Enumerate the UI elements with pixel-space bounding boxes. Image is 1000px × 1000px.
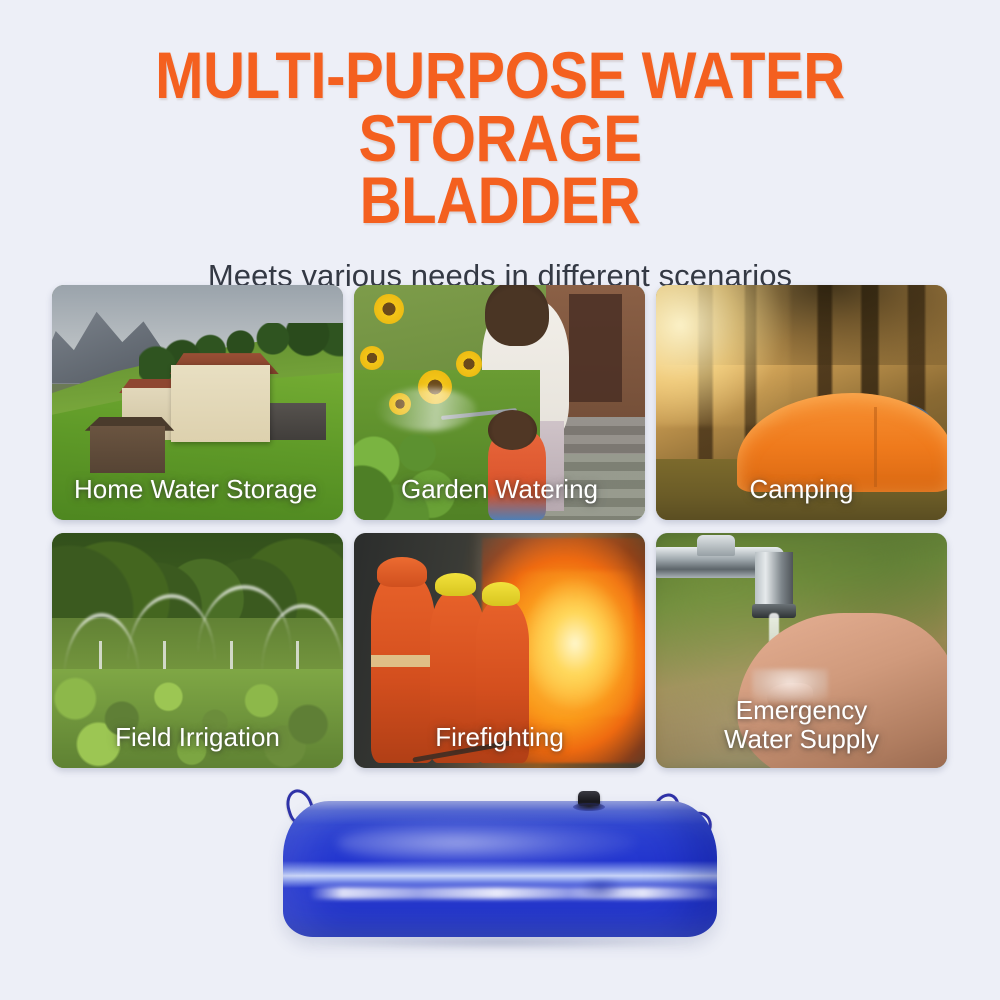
scenario-card-label: Camping <box>656 475 947 504</box>
water-spray <box>377 388 476 430</box>
sunflower-icon <box>360 346 384 370</box>
scenario-card-garden-watering: Garden Watering <box>354 285 645 520</box>
header: MULTI-PURPOSE WATER STORAGE BLADDER Meet… <box>0 0 1000 294</box>
bladder-body <box>283 801 717 937</box>
sunflower-icon <box>456 351 482 377</box>
faucet-knob <box>697 535 735 556</box>
yellow-helmet-icon <box>482 582 520 606</box>
surface-crease <box>579 879 623 901</box>
scenario-card-label: Emergency Water Supply <box>656 696 947 754</box>
product-image-water-storage-bladder <box>265 785 735 945</box>
gloss-highlight-top <box>337 821 637 865</box>
product-ground-shadow <box>309 935 695 949</box>
page-title-line-2: BLADDER <box>360 163 641 237</box>
house-icon <box>171 365 270 443</box>
crop-rows <box>52 669 343 768</box>
scenario-card-label-line-2: Water Supply <box>724 724 879 754</box>
scenario-card-home-water-storage: Home Water Storage <box>52 285 343 520</box>
scenario-card-label-line-1: Emergency <box>736 695 868 725</box>
reflective-stripe <box>371 655 435 667</box>
child-hair <box>488 410 537 450</box>
scenario-card-label: Field Irrigation <box>52 723 343 752</box>
scenario-card-label: Home Water Storage <box>52 475 343 504</box>
scenario-card-field-irrigation: Field Irrigation <box>52 533 343 768</box>
yellow-helmet-icon <box>435 573 476 597</box>
shed-icon <box>267 403 325 441</box>
scenario-card-grid: Home Water Storage Garden Watering <box>52 285 948 768</box>
firefighter-hood <box>377 557 426 588</box>
page-title: MULTI-PURPOSE WATER STORAGE BLADDER <box>95 44 905 232</box>
valve-cap-icon <box>578 791 600 806</box>
gloss-highlight-band <box>309 887 727 899</box>
page-title-line-1: MULTI-PURPOSE WATER STORAGE <box>155 38 845 175</box>
flame-core <box>517 571 633 717</box>
scenario-card-emergency-water-supply: Emergency Water Supply <box>656 533 947 768</box>
scenario-card-label: Firefighting <box>354 723 645 752</box>
woman-hair <box>485 285 549 346</box>
scenario-card-firefighting: Firefighting <box>354 533 645 768</box>
scenario-card-label: Garden Watering <box>354 475 645 504</box>
scenario-card-camping: Camping <box>656 285 947 520</box>
doorway <box>569 294 621 402</box>
sun-flare <box>656 285 790 426</box>
barn-icon <box>90 426 166 473</box>
